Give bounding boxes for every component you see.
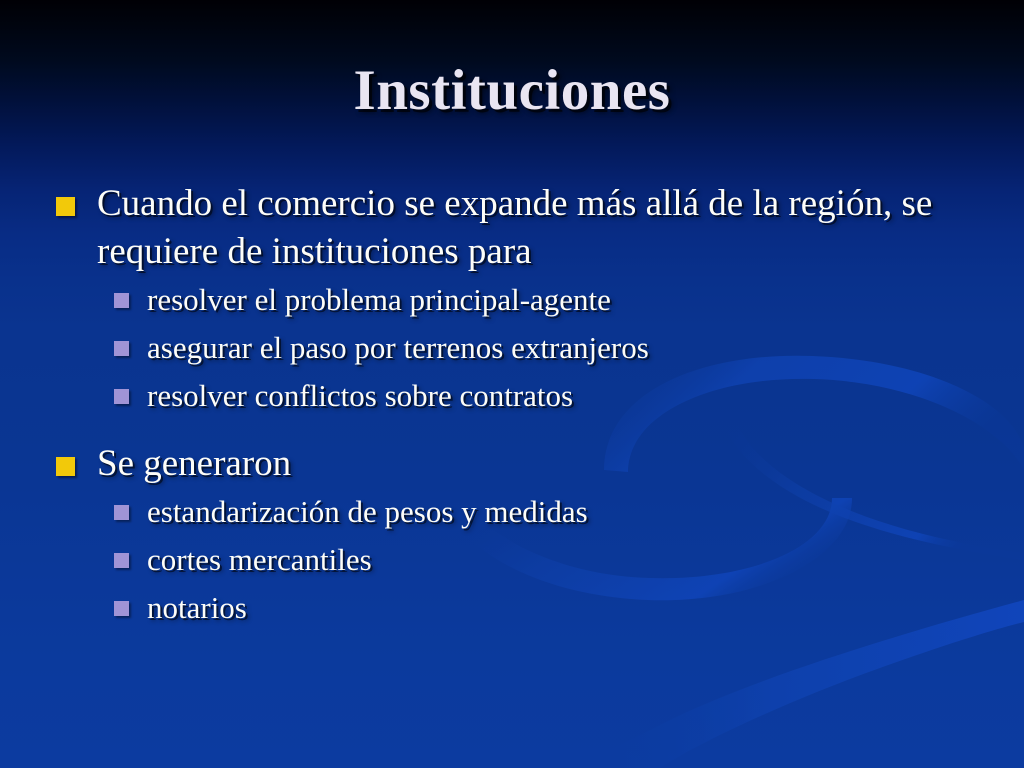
bullet-item-level-1: Se generaron — [56, 440, 986, 488]
bullet-item-level-2: resolver el problema principal-agente — [114, 278, 986, 321]
lavender-square-bullet — [114, 341, 129, 356]
bullet-text: estandarización de pesos y medidas — [147, 490, 588, 533]
presentation-slide: Instituciones Cuando el comercio se expa… — [0, 0, 1024, 768]
lavender-square-bullet — [114, 389, 129, 404]
bullet-item-level-2: notarios — [114, 586, 986, 629]
gold-square-bullet — [56, 197, 75, 216]
bullet-text: cortes mercantiles — [147, 538, 372, 581]
bullet-text: resolver conflictos sobre contratos — [147, 374, 573, 417]
slide-title: Instituciones — [0, 58, 1024, 123]
bullet-item-level-1: Cuando el comercio se expande más allá d… — [56, 180, 986, 276]
lavender-square-bullet — [114, 293, 129, 308]
bullet-item-level-2: asegurar el paso por terrenos extranjero… — [114, 326, 986, 369]
lavender-square-bullet — [114, 505, 129, 520]
bullet-item-level-2: cortes mercantiles — [114, 538, 986, 581]
bullet-text: notarios — [147, 586, 247, 629]
slide-body-content: Cuando el comercio se expande más allá d… — [56, 180, 986, 634]
gold-square-bullet — [56, 457, 75, 476]
lavender-square-bullet — [114, 553, 129, 568]
bullet-text: asegurar el paso por terrenos extranjero… — [147, 326, 649, 369]
bullet-group-spacer — [56, 422, 986, 440]
bullet-item-level-2: estandarización de pesos y medidas — [114, 490, 986, 533]
bullet-item-level-2: resolver conflictos sobre contratos — [114, 374, 986, 417]
bullet-text: resolver el problema principal-agente — [147, 278, 611, 321]
lavender-square-bullet — [114, 601, 129, 616]
bullet-text: Cuando el comercio se expande más allá d… — [97, 180, 986, 276]
bullet-text: Se generaron — [97, 440, 291, 488]
slide-title-text: Instituciones — [354, 58, 671, 123]
